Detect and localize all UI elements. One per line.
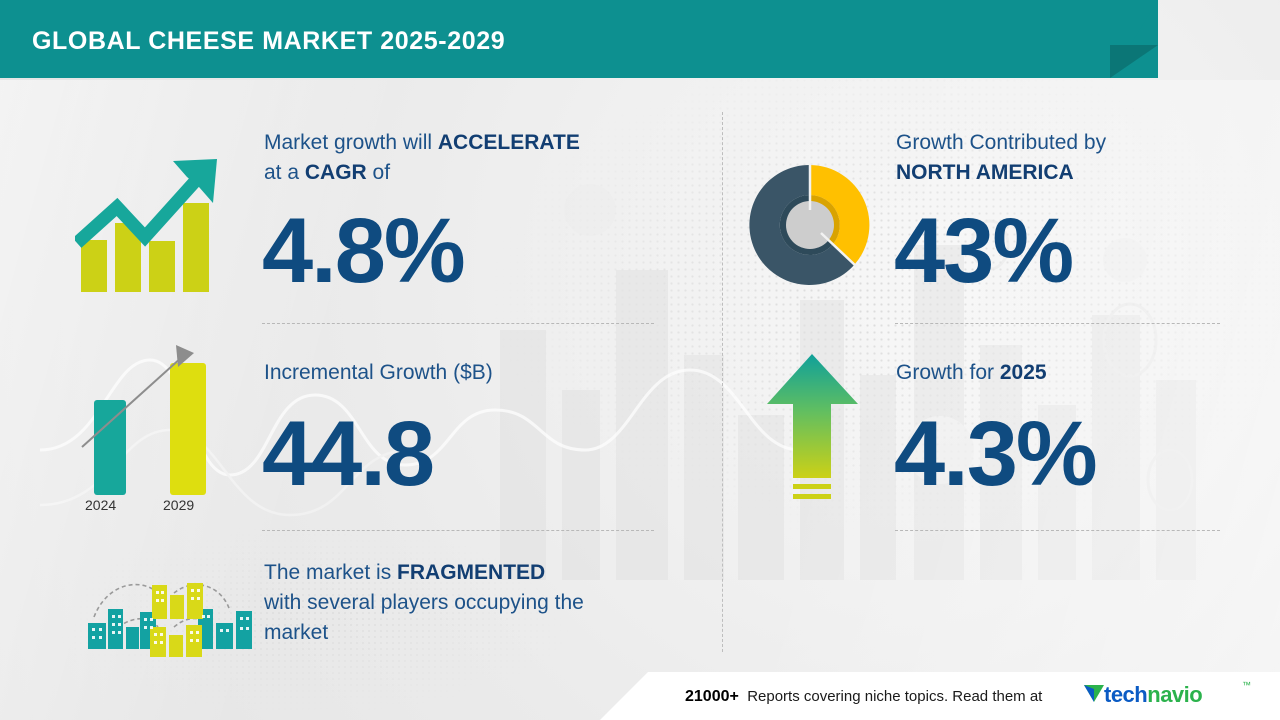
logo-trademark: ™ [1242, 680, 1251, 690]
technavio-logo[interactable]: technavio ™ [1082, 680, 1268, 710]
footer-caption-text: Reports covering niche topics. Read them… [747, 688, 1042, 705]
fragmentation-line2: with several players occupying the [264, 591, 584, 614]
year-growth-value: 4.3% [894, 408, 1096, 500]
year-growth-label-prefix: Growth for [896, 361, 1000, 384]
footer-caption: 21000+ Reports covering niche topics. Re… [685, 688, 1042, 706]
logo-text-tech: tech [1104, 682, 1147, 707]
region-line2-strong: NORTH AMERICA [896, 161, 1074, 184]
technavio-wordmark: technavio [1104, 682, 1202, 708]
divider-left-lower [262, 530, 654, 531]
divider-right-lower [895, 530, 1220, 531]
region-line1: Growth Contributed by [896, 131, 1106, 154]
year-growth-label: Growth for 2025 [896, 358, 1047, 388]
fragmentation-line1-prefix: The market is [264, 561, 397, 584]
bar-label-2029: 2029 [163, 497, 194, 513]
year-growth-label-strong: 2025 [1000, 361, 1047, 384]
footer-bar: 21000+ Reports covering niche topics. Re… [600, 672, 1280, 720]
growth-chart-icon [75, 155, 235, 295]
infographic-canvas: GLOBAL CHEESE MARKET 2025-2029 Market gr… [0, 0, 1280, 720]
cagr-line2-suffix: of [367, 161, 390, 184]
header-corner-fold-shadow [1110, 45, 1158, 78]
cagr-headline: Market growth will ACCELERATE at a CAGR … [264, 128, 664, 188]
donut-chart-icon [745, 160, 875, 290]
up-arrow-icon [765, 350, 860, 505]
cagr-line1-prefix: Market growth will [264, 131, 438, 154]
divider-right-upper [895, 323, 1220, 324]
divider-left-upper [262, 323, 654, 324]
page-title: GLOBAL CHEESE MARKET 2025-2029 [32, 27, 505, 56]
region-share-value: 43% [894, 205, 1072, 297]
fragmentation-line1-strong: FRAGMENTED [397, 561, 545, 584]
logo-text-navio: navio [1147, 682, 1202, 707]
bar-comparison-icon [70, 335, 240, 520]
region-headline: Growth Contributed by NORTH AMERICA [896, 128, 1226, 188]
bar-label-2024: 2024 [85, 497, 116, 513]
city-cluster-icon [70, 565, 260, 660]
fragmentation-text: The market is FRAGMENTED with several pl… [264, 558, 684, 648]
divider-vertical-center [722, 112, 723, 652]
fragmentation-line3: market [264, 621, 328, 644]
footer-report-count: 21000+ [685, 688, 739, 705]
incremental-growth-label: Incremental Growth ($B) [264, 358, 493, 388]
cagr-value: 4.8% [262, 205, 464, 297]
cagr-line2-strong: CAGR [305, 161, 367, 184]
cagr-line1-strong: ACCELERATE [438, 131, 580, 154]
cagr-line2-prefix: at a [264, 161, 305, 184]
incremental-growth-value: 44.8 [262, 408, 433, 500]
